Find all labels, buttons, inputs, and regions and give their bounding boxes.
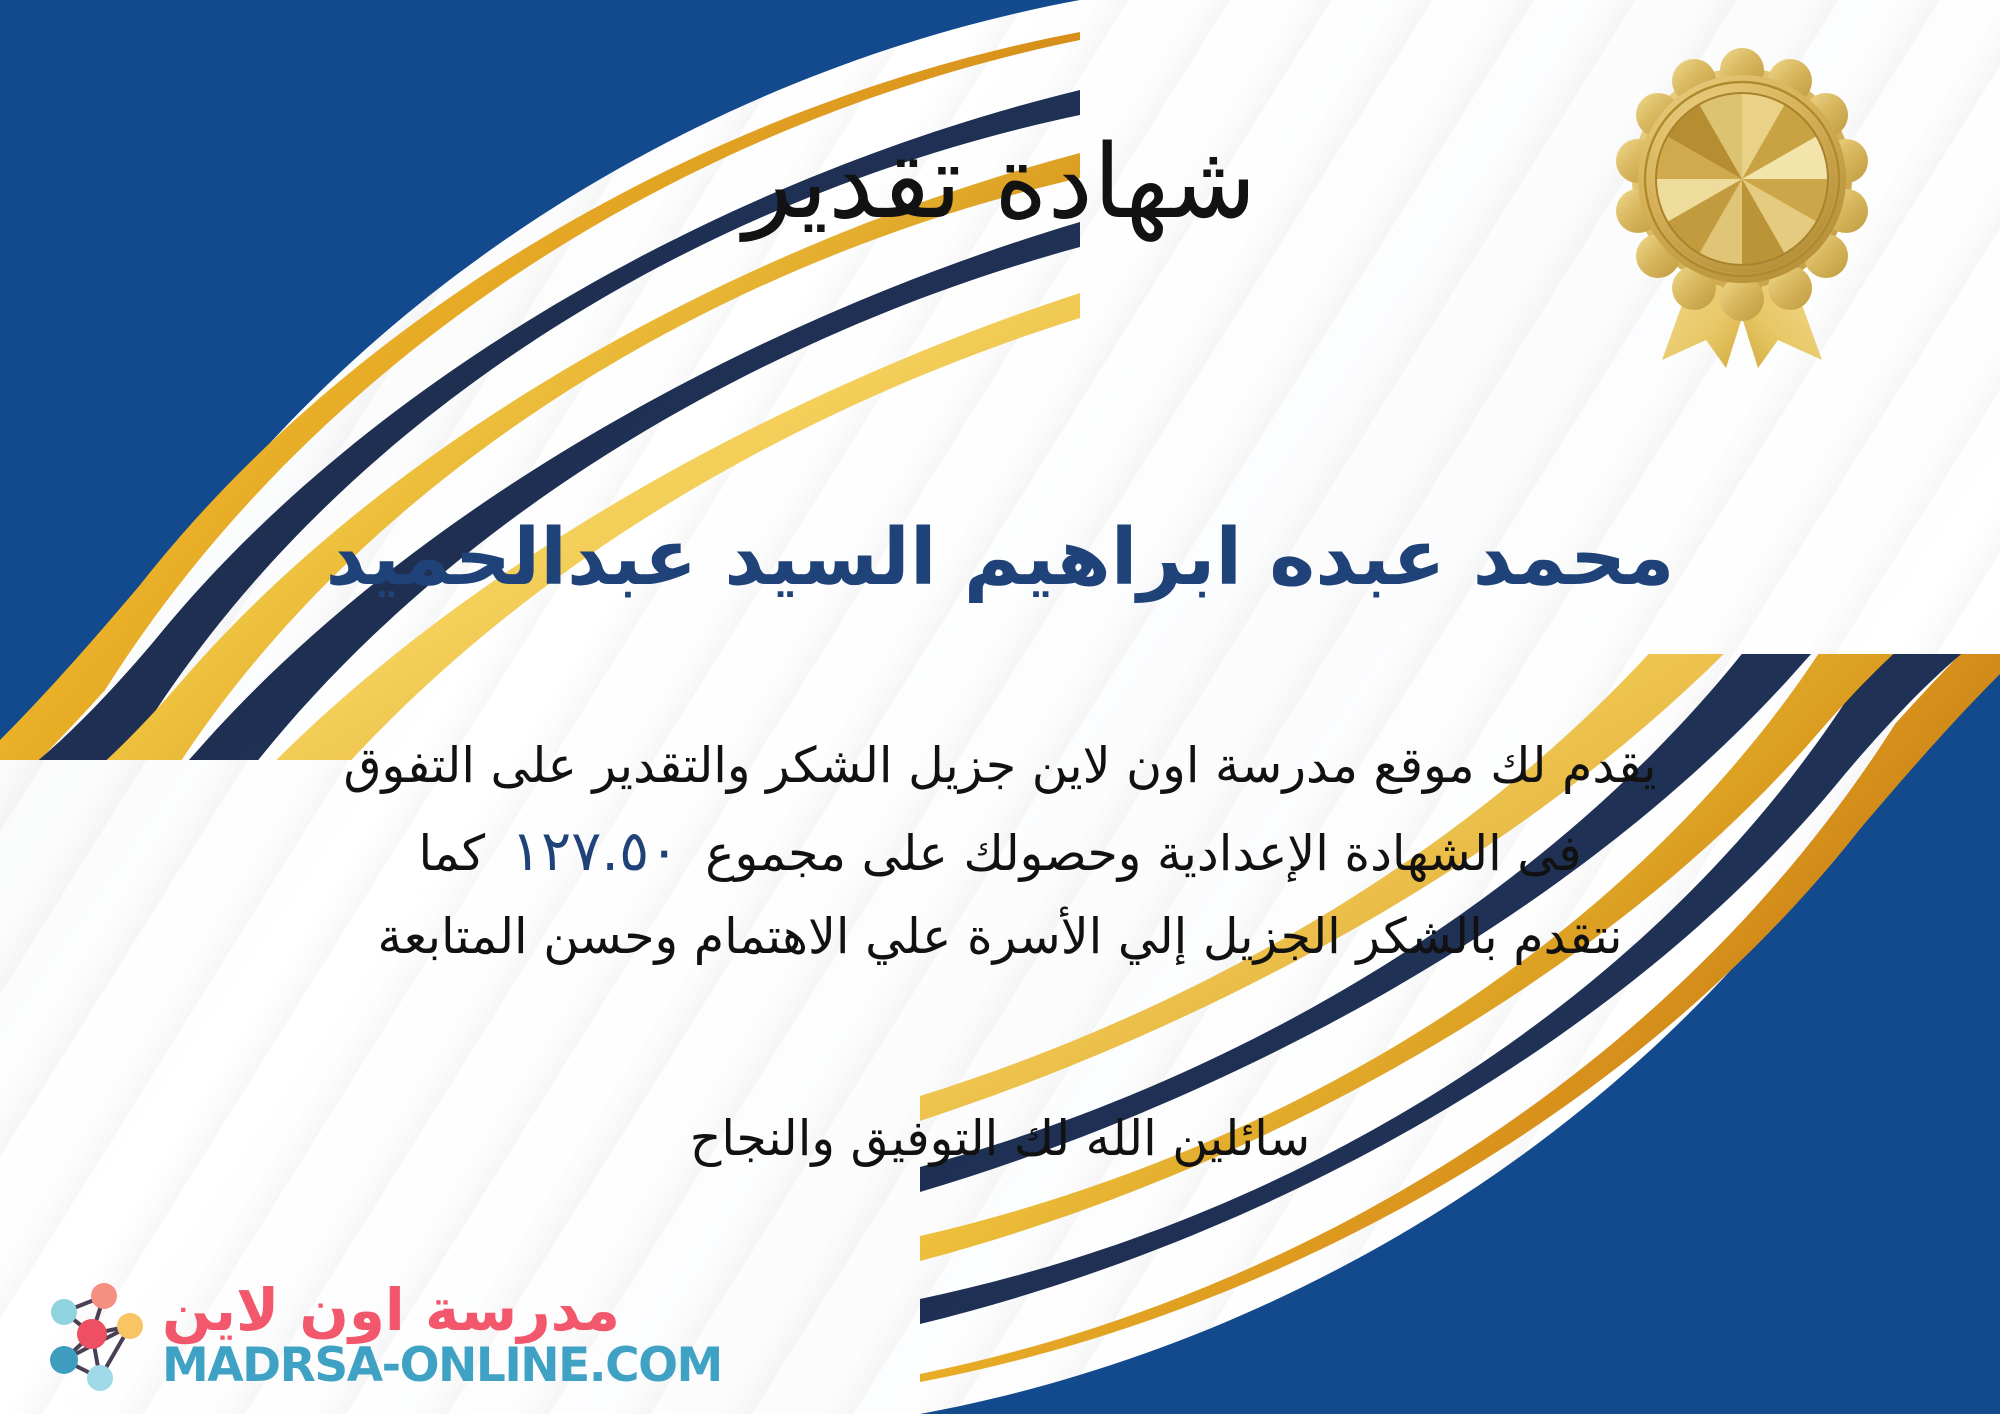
- body-line-2-prefix: فى الشهادة الإعدادية وحصولك على مجموع: [705, 825, 1581, 882]
- body-line-1: يقدم لك موقع مدرسة اون لاين جزيل الشكر و…: [70, 726, 1930, 806]
- gold-medal-rosette-icon: [1602, 48, 1882, 368]
- body-line-2-suffix: كما: [418, 825, 485, 882]
- brand-logo[interactable]: مدرسة اون لاين MADRSA-ONLINE.COM: [26, 1270, 722, 1400]
- body-line-3: نتقدم بالشكر الجزيل إلي الأسرة علي الاهت…: [70, 897, 1930, 977]
- brand-domain: MADRSA-ONLINE.COM: [162, 1341, 722, 1390]
- body-line-2: فى الشهادة الإعدادية وحصولك على مجموع١٢٧…: [70, 806, 1930, 897]
- network-nodes-icon: [26, 1270, 156, 1400]
- brand-logo-text: مدرسة اون لاين MADRSA-ONLINE.COM: [162, 1280, 722, 1390]
- closing-line: سائلين الله لك التوفيق والنجاح: [0, 1100, 2000, 1178]
- certificate-body: يقدم لك موقع مدرسة اون لاين جزيل الشكر و…: [70, 726, 1930, 977]
- recipient-name: محمد عبده ابراهيم السيد عبدالحميد: [0, 512, 2000, 606]
- brand-name-arabic: مدرسة اون لاين: [162, 1280, 620, 1341]
- grade-value: ١٢٧.٥٠: [485, 819, 705, 884]
- certificate-page: شهادة تقدير محمد عبده ابراهيم السيد عبدا…: [0, 0, 2000, 1414]
